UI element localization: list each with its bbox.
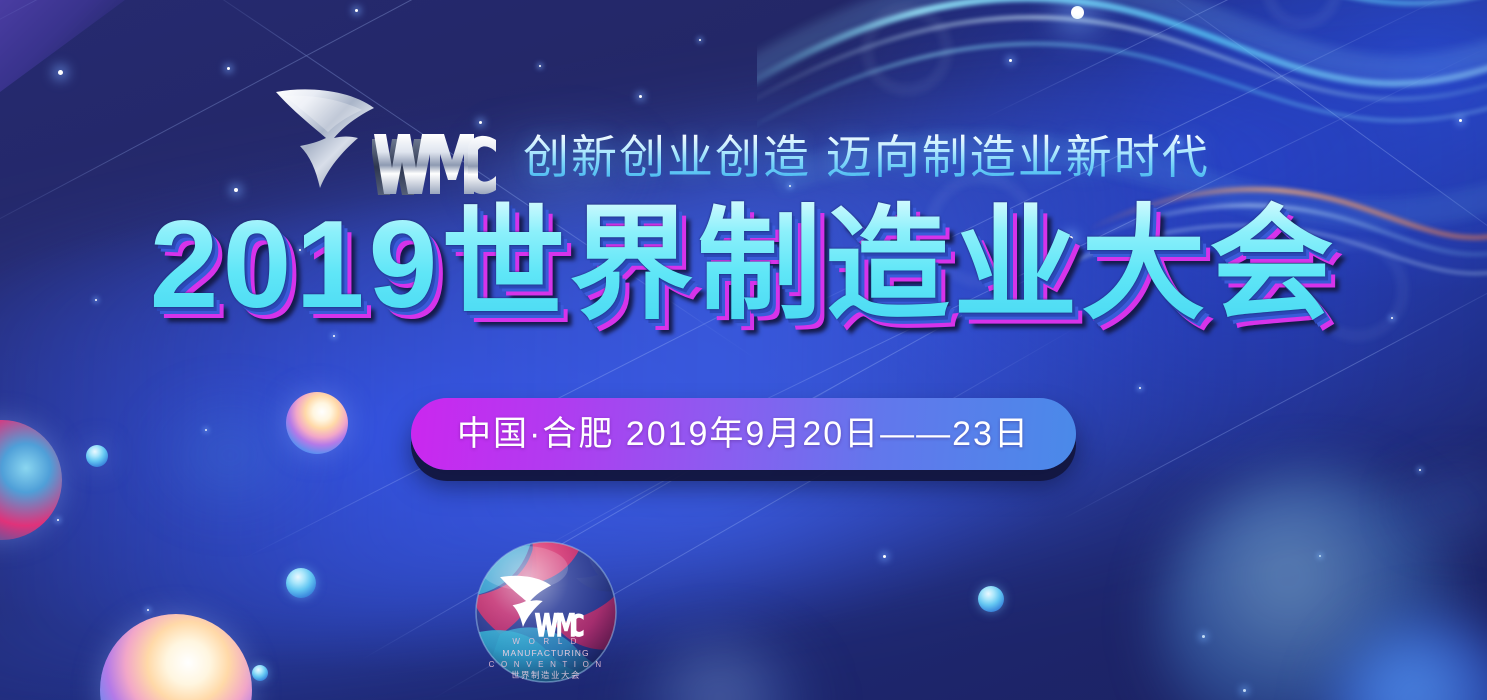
emblem-line-convention: C O N V E N T I O N xyxy=(489,660,604,669)
banner-content: 创新创业创造 迈向制造业新时代 2019世界制造业大会 2019世界制造业大会 … xyxy=(0,0,1487,700)
logo-and-tagline-row: 创新创业创造 迈向制造业新时代 xyxy=(272,82,1210,198)
emblem-line-world: W O R L D xyxy=(512,637,579,646)
date-location-text: 中国·合肥 2019年9月20日——23日 xyxy=(457,417,1030,451)
date-location-pill[interactable]: 中国·合肥 2019年9月20日——23日 xyxy=(411,398,1076,470)
wmc-emblem-logo[interactable]: W O R L D MANUFACTURING C O N V E N T I … xyxy=(472,538,620,686)
headline-container: 2019世界制造业大会 2019世界制造业大会 2019世界制造业大会 2019… xyxy=(0,196,1487,335)
emblem-line-manufacturing: MANUFACTURING xyxy=(502,648,589,658)
wmc-wordmark-icon xyxy=(372,112,497,198)
date-pill-container: 中国·合肥 2019年9月20日——23日 xyxy=(0,398,1487,470)
headline-text: 2019世界制造业大会 xyxy=(150,196,1338,334)
tagline-text: 创新创业创造 迈向制造业新时代 xyxy=(523,134,1210,180)
event-banner: 创新创业创造 迈向制造业新时代 2019世界制造业大会 2019世界制造业大会 … xyxy=(0,0,1487,700)
emblem-line-chinese: 世界制造业大会 xyxy=(511,670,581,680)
headline-3d: 2019世界制造业大会 2019世界制造业大会 2019世界制造业大会 2019… xyxy=(150,196,1338,335)
wmc-eagle-icon xyxy=(272,86,382,194)
